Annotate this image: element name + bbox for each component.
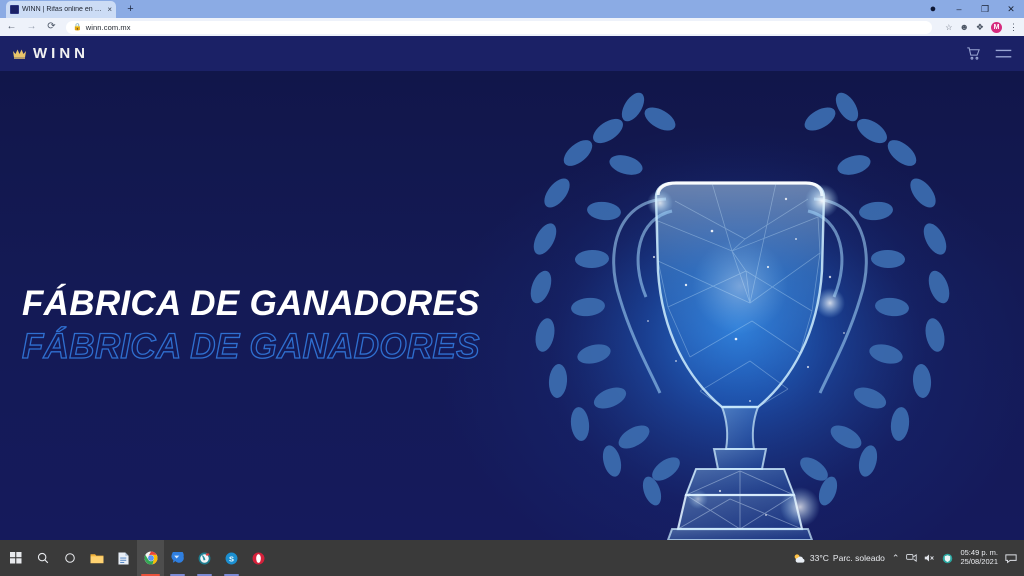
- trophy-laurel-wreath-illustration: [500, 71, 980, 540]
- document-app-button[interactable]: [110, 540, 137, 576]
- web-page: WINN: [0, 36, 1024, 540]
- mail-app-button[interactable]: [164, 540, 191, 576]
- profile-avatar-icon[interactable]: ☻: [959, 22, 968, 32]
- reload-icon[interactable]: ⟳: [46, 22, 57, 32]
- weather-widget[interactable]: 33°C Parc. soleado: [793, 553, 885, 564]
- avatar[interactable]: M: [991, 22, 1002, 33]
- window-controls: ● – ❐ ✕: [920, 0, 1024, 18]
- file-explorer-button[interactable]: [83, 540, 110, 576]
- folder-icon: [90, 552, 104, 564]
- temperature-text: 33°C: [810, 553, 829, 563]
- clock[interactable]: 05:49 p. m. 25/08/2021: [960, 549, 998, 567]
- mail-icon: [171, 552, 185, 564]
- url-text: winn.com.mx: [86, 23, 131, 32]
- windows-logo-icon: [10, 552, 22, 564]
- chrome-icon: [144, 551, 158, 565]
- winn-favicon: [10, 5, 19, 14]
- hero-headline: FÁBRICA DE GANADORES FÁBRICA DE GANADORE…: [22, 286, 542, 364]
- network-icon[interactable]: [906, 553, 917, 563]
- new-tab-button[interactable]: +: [124, 3, 137, 16]
- circle-icon: [64, 552, 76, 564]
- site-header: WINN: [0, 36, 1024, 71]
- chrome-button[interactable]: [137, 540, 164, 576]
- chrome-menu-icon[interactable]: ⋮: [1009, 22, 1018, 33]
- back-icon[interactable]: ←: [6, 22, 17, 32]
- forward-icon[interactable]: →: [26, 22, 37, 32]
- security-shield-icon[interactable]: [942, 553, 953, 564]
- close-window-button[interactable]: ✕: [998, 0, 1024, 18]
- search-icon: [37, 552, 49, 564]
- volume-icon[interactable]: [924, 553, 935, 563]
- weather-text: Parc. soleado: [833, 553, 885, 563]
- profile-indicator-icon[interactable]: ●: [920, 0, 946, 18]
- bookmark-star-icon[interactable]: ☆: [945, 23, 952, 32]
- close-icon[interactable]: ×: [107, 6, 112, 14]
- opera-icon: [252, 552, 265, 565]
- start-button[interactable]: [2, 540, 29, 576]
- skype-icon: S: [225, 552, 238, 565]
- tab-strip: WINN | Rifas online en México × + ● – ❐ …: [0, 0, 1024, 18]
- search-button[interactable]: [29, 540, 56, 576]
- crown-icon: [12, 48, 27, 59]
- browser-chrome: WINN | Rifas online en México × + ● – ❐ …: [0, 0, 1024, 36]
- headline-outline: FÁBRICA DE GANADORES: [22, 329, 542, 365]
- toolbar-right: ☆ ☻ ❖ M ⋮: [941, 22, 1018, 33]
- headline-solid: FÁBRICA DE GANADORES: [22, 286, 542, 322]
- browser-toolbar: ← → ⟳ 🔒 winn.com.mx ☆ ☻ ❖ M ⋮: [0, 18, 1024, 36]
- task-view-button[interactable]: [56, 540, 83, 576]
- windows-taskbar: S 33°C Parc. soleado ⌃: [0, 540, 1024, 576]
- media-app-button[interactable]: [191, 540, 218, 576]
- brand-name: WINN: [33, 46, 89, 61]
- hero-section: FÁBRICA DE GANADORES FÁBRICA DE GANADORE…: [0, 71, 1024, 540]
- media-app-icon: [198, 552, 211, 565]
- skype-button[interactable]: S: [218, 540, 245, 576]
- sun-cloud-icon: [793, 553, 806, 564]
- show-hidden-icons-chevron-icon[interactable]: ⌃: [892, 553, 900, 564]
- header-actions: [966, 46, 1012, 61]
- system-tray: 33°C Parc. soleado ⌃ 05:49 p. m. 25/08/2…: [793, 549, 1022, 567]
- browser-tab[interactable]: WINN | Rifas online en México ×: [6, 1, 116, 18]
- screen: WINN | Rifas online en México × + ● – ❐ …: [0, 0, 1024, 576]
- tab-title: WINN | Rifas online en México: [22, 6, 104, 13]
- clock-date: 25/08/2021: [960, 558, 998, 567]
- svg-text:S: S: [229, 554, 234, 563]
- minimize-button[interactable]: –: [946, 0, 972, 18]
- maximize-button[interactable]: ❐: [972, 0, 998, 18]
- brand-logo[interactable]: WINN: [12, 46, 89, 61]
- extensions-icon[interactable]: ❖: [976, 22, 984, 33]
- shopping-cart-icon[interactable]: [966, 46, 981, 61]
- action-center-icon[interactable]: [1005, 553, 1017, 564]
- hamburger-menu-icon[interactable]: [995, 47, 1012, 61]
- opera-button[interactable]: [245, 540, 272, 576]
- document-icon: [118, 552, 129, 565]
- lock-icon: 🔒: [73, 23, 82, 31]
- address-bar[interactable]: 🔒 winn.com.mx: [66, 21, 932, 34]
